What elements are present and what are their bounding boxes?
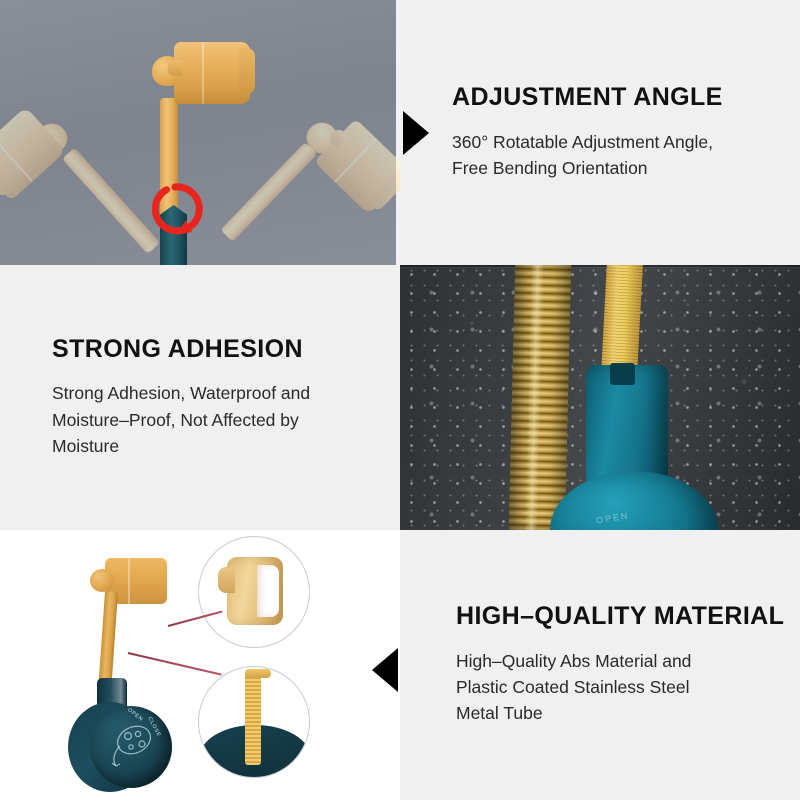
photo-product-panel: OPEN CLOSE — [0, 530, 400, 800]
feature-title: HIGH–QUALITY MATERIAL — [456, 603, 770, 631]
feature-row-high-quality-material: OPEN CLOSE HIGH–QUALITY MATERIAL H — [0, 530, 800, 800]
rotation-arrow-icon — [146, 180, 204, 238]
feature-body-line: 360° Rotatable Adjustment Angle, — [452, 129, 774, 155]
feature-row-adjustment-angle: ADJUSTMENT ANGLE 360° Rotatable Adjustme… — [0, 0, 800, 265]
feature-body: Strong Adhesion, Waterproof and Moisture… — [52, 380, 374, 459]
feature-body-line: Metal Tube — [456, 700, 770, 726]
photo-rotation-panel — [0, 0, 400, 265]
text-panel-adjustment-angle: ADJUSTMENT ANGLE 360° Rotatable Adjustme… — [400, 0, 800, 265]
bracket-clip-closeup — [227, 557, 283, 625]
feature-body-line: High–Quality Abs Material and — [456, 648, 770, 674]
ridged-tube-closeup — [245, 673, 261, 765]
rotation-photo — [0, 0, 396, 265]
product-photo: OPEN CLOSE — [0, 530, 400, 800]
bracket-head — [174, 42, 250, 104]
wall-seam — [400, 265, 800, 267]
photo-wet-wall-panel: OPEN — [400, 265, 800, 530]
bracket-ball-joint — [90, 569, 114, 592]
callout-tube-base-detail — [198, 666, 310, 778]
feature-body-line: Free Bending Orientation — [452, 155, 774, 181]
product-infographic: ADJUSTMENT ANGLE 360° Rotatable Adjustme… — [0, 0, 800, 800]
feature-body-line: Moisture — [52, 433, 374, 459]
shower-head-icon — [90, 706, 172, 788]
text-panel-high-quality-material: HIGH–QUALITY MATERIAL High–Quality Abs M… — [400, 530, 800, 800]
feature-body: High–Quality Abs Material and Plastic Co… — [456, 648, 770, 727]
feature-body-line: Plastic Coated Stainless Steel — [456, 674, 770, 700]
product-stem — [99, 592, 118, 686]
suction-dial — [90, 706, 172, 788]
feature-title: STRONG ADHESION — [52, 336, 374, 364]
bracket-head — [0, 107, 66, 201]
triangle-left-icon — [372, 648, 398, 692]
triangle-right-icon — [403, 111, 429, 155]
callout-leader-line — [128, 652, 222, 675]
wet-wall-photo: OPEN — [400, 265, 800, 530]
feature-body-line: Moisture–Proof, Not Affected by — [52, 407, 374, 433]
bracket-notch — [168, 60, 182, 76]
feature-title: ADJUSTMENT ANGLE — [452, 84, 774, 112]
callout-bracket-clip-detail — [198, 536, 310, 648]
feature-body: 360° Rotatable Adjustment Angle, Free Be… — [452, 129, 774, 182]
feature-body-line: Strong Adhesion, Waterproof and — [52, 380, 374, 406]
feature-row-strong-adhesion: STRONG ADHESION Strong Adhesion, Waterpr… — [0, 265, 800, 530]
text-panel-strong-adhesion: STRONG ADHESION Strong Adhesion, Waterpr… — [0, 265, 400, 530]
